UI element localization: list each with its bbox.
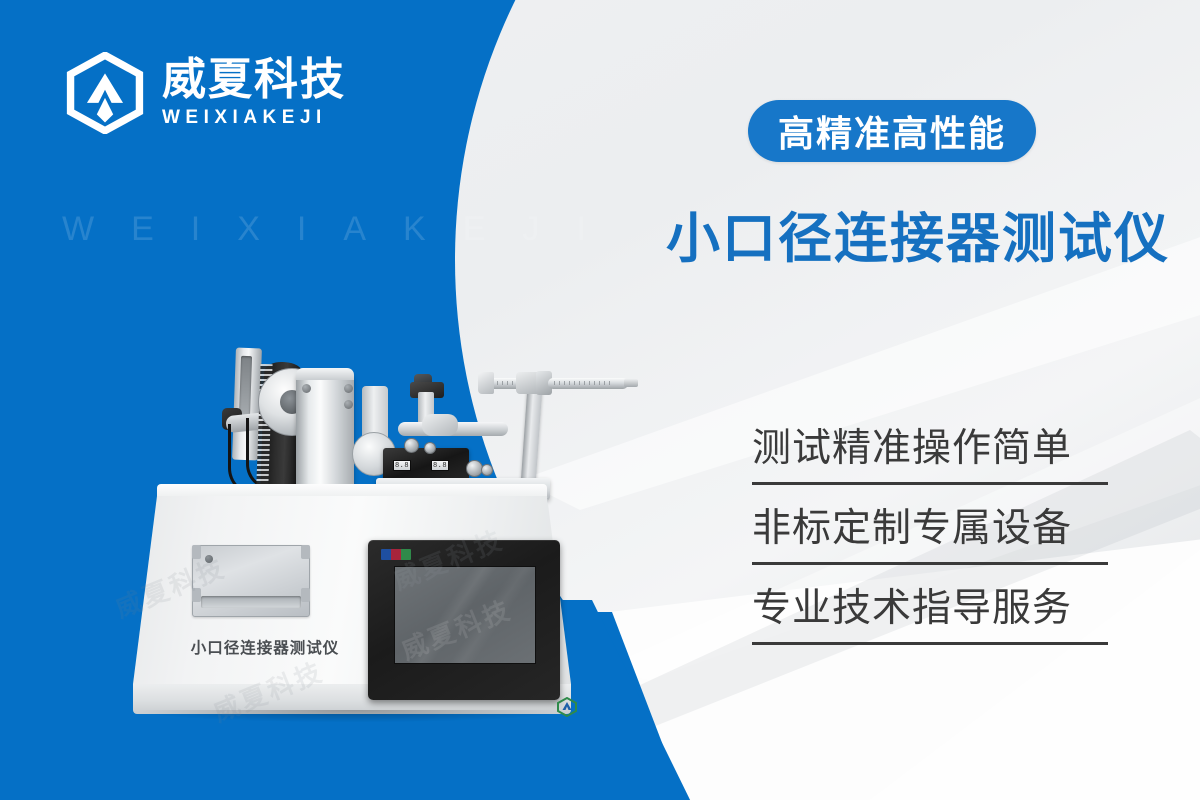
- fixture-adjust-knob: [404, 438, 419, 453]
- drive-drum-top: [296, 368, 354, 380]
- product-photo: 8.8 8.8 小口径连接器测试仪: [0, 0, 700, 800]
- micrometer-scale-right: [554, 381, 612, 385]
- panel-tab: [192, 545, 201, 559]
- panel-tab: [301, 545, 310, 559]
- hmi-touch-panel[interactable]: [368, 540, 560, 700]
- weixia-corner-logo-icon: [556, 697, 584, 727]
- hero-badge: 高精准高性能: [748, 100, 1036, 162]
- drum-bolt: [344, 400, 353, 409]
- drum-bolt: [302, 384, 311, 393]
- machine-drop-shadow: [140, 710, 564, 722]
- panel-tab: [301, 588, 310, 602]
- feature-label: 非标定制专属设备: [752, 504, 1112, 554]
- micrometer-tip: [624, 379, 638, 387]
- micrometer-vertical-arm: [520, 380, 543, 493]
- hmi-screen-glare: [395, 567, 535, 663]
- feature-label: 专业技术指导服务: [752, 584, 1112, 634]
- panel-tab: [192, 588, 201, 602]
- micrometer-thimble-head: [478, 372, 494, 394]
- poster-stage: WEIXIAKEJI 威夏科技 WEIXIAKEJI 高精准高性能 小口径连接器…: [0, 0, 1200, 800]
- drum-bolt: [344, 384, 353, 393]
- fixture-adjust-knob: [481, 464, 493, 476]
- printer-paper-slot: [201, 596, 301, 608]
- feature-divider: [752, 482, 1108, 485]
- hmi-screen[interactable]: [394, 566, 536, 664]
- feature-item: 非标定制专属设备: [752, 504, 1112, 565]
- feature-list: 测试精准操作简单 非标定制专属设备 专业技术指导服务: [752, 424, 1112, 645]
- feature-item: 测试精准操作简单: [752, 424, 1112, 485]
- fixture-adjust-knob: [424, 442, 436, 454]
- fixture-counter-left: 8.8: [393, 460, 411, 471]
- corner-logo-mark: [556, 704, 578, 721]
- machine-front-label: 小口径连接器测试仪: [160, 636, 370, 658]
- fixture-counter-right: 8.8: [431, 460, 449, 471]
- panel-screw-icon: [205, 555, 213, 563]
- hero-badge-label: 高精准高性能: [778, 105, 1006, 157]
- feature-item: 专业技术指导服务: [752, 584, 1112, 645]
- printer-access-panel: [192, 545, 310, 617]
- hero-title: 小口径连接器测试仪: [666, 194, 1170, 273]
- left-post-slide-rail: [239, 356, 252, 418]
- right-rail-collar: [422, 414, 458, 436]
- feature-divider: [752, 562, 1108, 565]
- feature-label: 测试精准操作简单: [752, 424, 1112, 474]
- feature-divider: [752, 642, 1108, 645]
- hmi-vendor-logo-icon: [381, 549, 411, 560]
